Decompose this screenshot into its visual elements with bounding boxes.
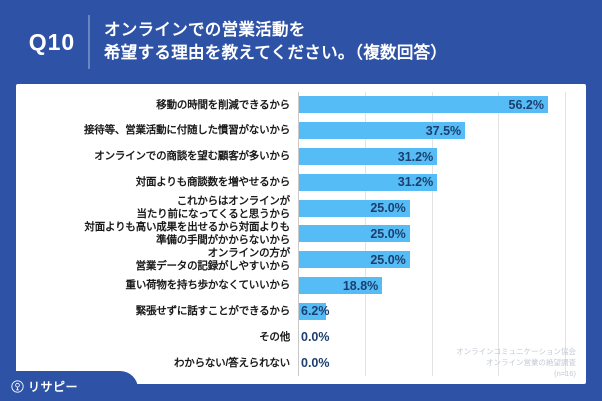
- bar[interactable]: 31.2%: [299, 174, 437, 191]
- category-label: 移動の時間を削減できるから: [156, 99, 290, 112]
- brand-logo[interactable]: リサピー: [0, 371, 138, 401]
- category-label: オンラインでの商談を望む顧客が多いから: [94, 150, 290, 163]
- category-label-column: 移動の時間を削減できるから接待等、営業活動に付随した慣習がないからオンラインでの…: [16, 92, 298, 376]
- bar-track: 25.0%: [299, 247, 586, 273]
- category-label: オンラインの方が 営業データの記録がしやすいから: [136, 247, 290, 273]
- bar[interactable]: 37.5%: [299, 122, 465, 139]
- chart-credits: オンラインコミュニケーション協会 オンライン営業の絶望調査 (n=16): [456, 347, 576, 380]
- category-label-row: 移動の時間を削減できるから: [16, 92, 298, 118]
- bar-value-label: 6.2%: [301, 304, 330, 318]
- category-label: その他: [259, 331, 290, 344]
- page-title: オンラインでの営業活動を 希望する理由を教えてください。（複数回答）: [104, 19, 602, 66]
- category-label: 緊張せずに話すことができるから: [136, 305, 290, 318]
- question-number: Q10: [18, 29, 86, 56]
- category-label-row: 緊張せずに話すことができるから: [16, 299, 298, 325]
- credits-line-1: オンラインコミュニケーション協会: [456, 347, 576, 358]
- category-label-row: 重い荷物を持ち歩かなくていいから: [16, 273, 298, 299]
- category-label: 対面よりも高い成果を出せるから対面よりも 準備の手間がかからないから: [84, 221, 290, 247]
- bar[interactable]: 25.0%: [299, 251, 410, 268]
- category-label: 対面よりも商談数を増やせるから: [136, 176, 290, 189]
- category-label: これからはオンラインが 当たり前になってくると思うから: [137, 195, 290, 221]
- category-label-row: 接待等、営業活動に付随した慣習がないから: [16, 118, 298, 144]
- bar[interactable]: 56.2%: [299, 96, 548, 113]
- slide-root: Q10 オンラインでの営業活動を 希望する理由を教えてください。（複数回答） 移…: [0, 0, 602, 401]
- slide-header: Q10 オンラインでの営業活動を 希望する理由を教えてください。（複数回答）: [0, 0, 602, 84]
- category-label-row: その他: [16, 324, 298, 350]
- bar-track: 37.5%: [299, 118, 586, 144]
- category-label-row: 対面よりも商談数を増やせるから: [16, 169, 298, 195]
- bar-track: 18.8%: [299, 273, 586, 299]
- category-label-row: オンラインの方が 営業データの記録がしやすいから: [16, 247, 298, 273]
- table-row[interactable]: 25.0%: [299, 247, 586, 273]
- credits-line-2: オンライン営業の絶望調査: [456, 358, 576, 369]
- bar-track: 6.2%: [299, 299, 586, 325]
- table-row[interactable]: 56.2%: [299, 92, 586, 118]
- bar-track: 25.0%: [299, 221, 586, 247]
- bar[interactable]: 25.0%: [299, 225, 410, 242]
- table-row[interactable]: 31.2%: [299, 169, 586, 195]
- category-label-rows: 移動の時間を削減できるから接待等、営業活動に付随した慣習がないからオンラインでの…: [16, 92, 298, 376]
- bar-value-label: 25.0%: [370, 253, 409, 267]
- table-row[interactable]: 37.5%: [299, 118, 586, 144]
- category-label: わからない/答えられない: [174, 357, 290, 370]
- bar[interactable]: 31.2%: [299, 148, 437, 165]
- table-row[interactable]: 25.0%: [299, 195, 586, 221]
- table-row[interactable]: 18.8%: [299, 273, 586, 299]
- page-title-line-1: オンラインでの営業活動を: [104, 19, 602, 42]
- bar-value-label: 0.0%: [301, 356, 330, 370]
- brand-logo-text: リサピー: [28, 378, 78, 395]
- category-label-row: これからはオンラインが 当たり前になってくると思うから: [16, 195, 298, 221]
- bar-track: 56.2%: [299, 92, 586, 118]
- bar-value-label: 18.8%: [343, 279, 382, 293]
- table-row[interactable]: 31.2%: [299, 144, 586, 170]
- bar-track: 25.0%: [299, 195, 586, 221]
- category-label-row: オンラインでの商談を望む顧客が多いから: [16, 144, 298, 170]
- plot-area: 56.2%37.5%31.2%31.2%25.0%25.0%25.0%18.8%…: [298, 92, 586, 376]
- bar-value-label: 31.2%: [398, 175, 437, 189]
- bar-value-label: 0.0%: [301, 330, 330, 344]
- table-row[interactable]: 25.0%: [299, 221, 586, 247]
- header-divider: [88, 15, 90, 69]
- bar-value-label: 31.2%: [398, 150, 437, 164]
- bar-value-label: 37.5%: [426, 124, 465, 138]
- table-row[interactable]: 6.2%: [299, 299, 586, 325]
- category-label: 接待等、営業活動に付随した慣習がないから: [84, 124, 290, 137]
- chart-card: 移動の時間を削減できるから接待等、営業活動に付随した慣習がないからオンラインでの…: [16, 84, 586, 384]
- bar-track: 31.2%: [299, 144, 586, 170]
- bar-rows: 56.2%37.5%31.2%31.2%25.0%25.0%25.0%18.8%…: [299, 92, 586, 376]
- horizontal-bar-chart: 移動の時間を削減できるから接待等、営業活動に付随した慣習がないからオンラインでの…: [16, 84, 586, 384]
- category-label: 重い荷物を持ち歩かなくていいから: [126, 279, 290, 292]
- page-title-line-2: 希望する理由を教えてください。（複数回答）: [104, 42, 602, 65]
- category-label-row: 対面よりも高い成果を出せるから対面よりも 準備の手間がかからないから: [16, 221, 298, 247]
- bar[interactable]: 25.0%: [299, 200, 410, 217]
- bar-track: 31.2%: [299, 169, 586, 195]
- credits-line-3: (n=16): [456, 369, 576, 380]
- bar[interactable]: 18.8%: [299, 277, 382, 294]
- magnifier-circle-icon: [11, 380, 24, 393]
- bar-value-label: 25.0%: [370, 201, 409, 215]
- bar-value-label: 56.2%: [509, 98, 548, 112]
- bar-value-label: 25.0%: [370, 227, 409, 241]
